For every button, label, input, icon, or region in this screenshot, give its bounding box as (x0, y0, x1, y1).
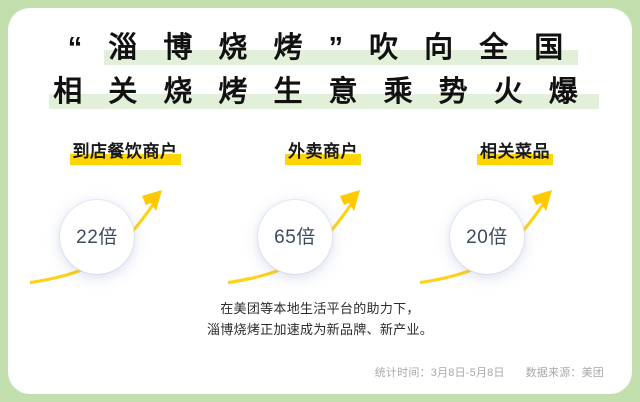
description-block: 在美团等本地生活平台的助力下， 淄博烧烤正加速成为新品牌、新产业。 (8, 298, 632, 340)
title-block: “ 淄 博 烧 烤 ” 吹 向 全 国 相 关 烧 烤 生 意 乘 势 火 爆 (8, 26, 632, 114)
stat-figure-0: 22倍 (30, 174, 220, 294)
title-line-2-text: 相 关 烧 烤 生 意 乘 势 火 爆 (53, 76, 587, 108)
title-line-1: “ 淄 博 烧 烤 ” 吹 向 全 国 (66, 26, 575, 70)
stat-label-0-text: 到店餐饮商户 (73, 142, 178, 161)
footer-meta: 统计时间：3月8日-5月8日 数据来源：美团 (375, 363, 604, 381)
infographic-canvas: “ 淄 博 烧 烤 ” 吹 向 全 国 相 关 烧 烤 生 意 乘 势 火 爆 … (0, 0, 640, 402)
stats-row: 到店餐饮商户 22倍 外卖 (8, 140, 632, 300)
footer-period: 统计时间：3月8日-5月8日 (375, 364, 505, 380)
stat-label-wrap-1: 外卖商户 (228, 140, 418, 174)
stat-card-1: 外卖商户 65倍 (228, 140, 418, 300)
stat-circle-1: 65倍 (258, 200, 332, 274)
stat-label-2-text: 相关菜品 (480, 142, 550, 161)
description-line-1: 在美团等本地生活平台的助力下， (8, 298, 632, 319)
content-panel: “ 淄 博 烧 烤 ” 吹 向 全 国 相 关 烧 烤 生 意 乘 势 火 爆 … (8, 8, 632, 394)
stat-label-wrap-0: 到店餐饮商户 (30, 140, 220, 174)
stat-value-1: 65倍 (274, 228, 316, 247)
stat-label-wrap-2: 相关菜品 (420, 140, 610, 174)
stat-label-1-text: 外卖商户 (288, 142, 358, 161)
stat-value-2: 20倍 (466, 228, 508, 247)
description-line-2: 淄博烧烤正加速成为新品牌、新产业。 (8, 319, 632, 340)
stat-circle-2: 20倍 (450, 200, 524, 274)
footer-source: 数据来源：美团 (526, 364, 604, 380)
stat-circle-0: 22倍 (60, 200, 134, 274)
stat-card-0: 到店餐饮商户 22倍 (30, 140, 220, 300)
title-line-1-text: “ 淄 博 烧 烤 ” 吹 向 全 国 (68, 32, 573, 64)
stat-card-2: 相关菜品 20倍 (420, 140, 610, 300)
stat-label-0: 到店餐饮商户 (70, 140, 181, 164)
stat-label-2: 相关菜品 (477, 140, 553, 164)
stat-figure-2: 20倍 (420, 174, 610, 294)
stat-label-1: 外卖商户 (285, 140, 361, 164)
stat-value-0: 22倍 (76, 228, 118, 247)
title-line-2: 相 关 烧 烤 生 意 乘 势 火 爆 (51, 70, 589, 114)
stat-figure-1: 65倍 (228, 174, 418, 294)
